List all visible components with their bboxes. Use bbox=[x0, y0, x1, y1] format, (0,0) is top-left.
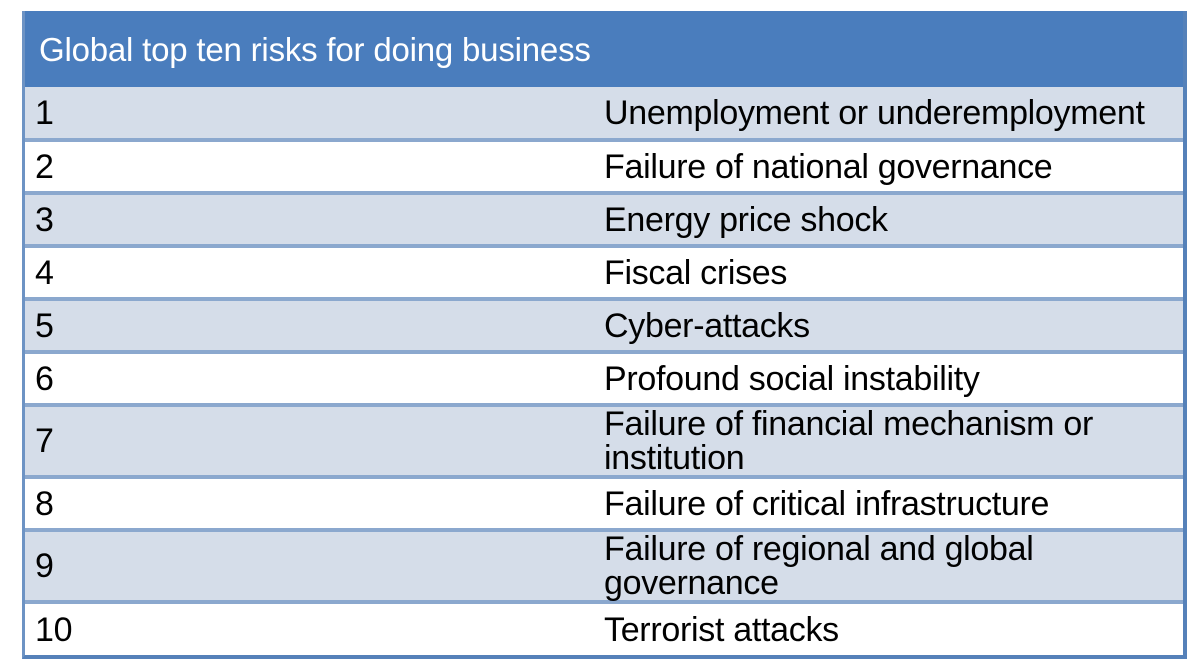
risk-rank-cell: 3 bbox=[25, 193, 604, 246]
table-row: 6Profound social instability bbox=[25, 352, 1183, 405]
table-row: 7Failure of financial mechanism or insti… bbox=[25, 405, 1183, 477]
risk-name-cell: Failure of financial mechanism or instit… bbox=[604, 405, 1183, 477]
table-row: 10Terrorist attacks bbox=[25, 602, 1183, 655]
risk-name-cell: Failure of critical infrastructure bbox=[604, 477, 1183, 530]
table-row: 9Failure of regional and global governan… bbox=[25, 530, 1183, 602]
table-row: 2Failure of national governance bbox=[25, 140, 1183, 193]
table-row: 1Unemployment or underemployment bbox=[25, 87, 1183, 140]
table-title: Global top ten risks for doing business bbox=[25, 11, 1183, 87]
risk-name-cell: Cyber-attacks bbox=[604, 299, 1183, 352]
risk-name-cell: Failure of national governance bbox=[604, 140, 1183, 193]
risk-table-container: Global top ten risks for doing business … bbox=[22, 11, 1187, 659]
table-row: 4Fiscal crises bbox=[25, 246, 1183, 299]
risk-rank-cell: 7 bbox=[25, 405, 604, 477]
risk-rank-cell: 1 bbox=[25, 87, 604, 140]
global-top-ten-risks-table: Global top ten risks for doing business … bbox=[25, 11, 1183, 655]
table-header: Global top ten risks for doing business bbox=[25, 11, 1183, 87]
table-body: 1Unemployment or underemployment2Failure… bbox=[25, 87, 1183, 655]
risk-rank-cell: 8 bbox=[25, 477, 604, 530]
risk-rank-cell: 9 bbox=[25, 530, 604, 602]
table-row: 8Failure of critical infrastructure bbox=[25, 477, 1183, 530]
risk-name-cell: Failure of regional and global governanc… bbox=[604, 530, 1183, 602]
table-row: 5Cyber-attacks bbox=[25, 299, 1183, 352]
table-header-row: Global top ten risks for doing business bbox=[25, 11, 1183, 87]
risk-name-cell: Profound social instability bbox=[604, 352, 1183, 405]
risk-name-cell: Energy price shock bbox=[604, 193, 1183, 246]
risk-name-cell: Terrorist attacks bbox=[604, 602, 1183, 655]
risk-name-cell: Fiscal crises bbox=[604, 246, 1183, 299]
table-row: 3Energy price shock bbox=[25, 193, 1183, 246]
risk-rank-cell: 10 bbox=[25, 602, 604, 655]
risk-name-cell: Unemployment or underemployment bbox=[604, 87, 1183, 140]
risk-rank-cell: 5 bbox=[25, 299, 604, 352]
risk-rank-cell: 6 bbox=[25, 352, 604, 405]
risk-rank-cell: 4 bbox=[25, 246, 604, 299]
risk-rank-cell: 2 bbox=[25, 140, 604, 193]
